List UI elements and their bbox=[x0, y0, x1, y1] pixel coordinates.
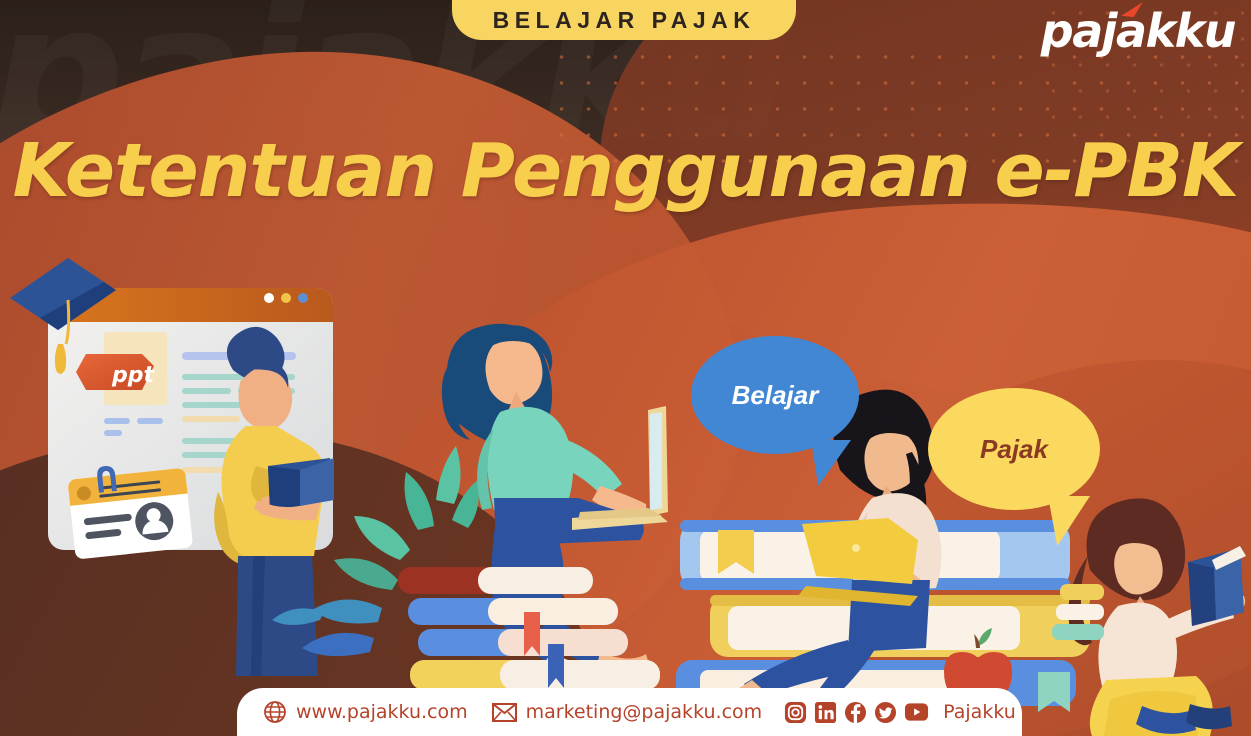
email-label: marketing@pajakku.com bbox=[526, 701, 763, 723]
email-item[interactable]: marketing@pajakku.com bbox=[492, 701, 763, 723]
twitter-icon[interactable] bbox=[874, 701, 897, 724]
pajakku-logo[interactable]: pajakku bbox=[1041, 4, 1235, 58]
website-item[interactable]: www.pajakku.com bbox=[263, 700, 468, 724]
website-label: www.pajakku.com bbox=[296, 701, 468, 723]
speech-bubble-belajar: Belajar bbox=[691, 336, 859, 454]
belajar-pajak-badge: BELAJAR PAJAK bbox=[452, 0, 796, 40]
poster-canvas: pajakku BELAJAR PAJAK pajakku Ketentuan … bbox=[0, 0, 1251, 736]
linkedin-icon[interactable] bbox=[814, 701, 837, 724]
facebook-icon[interactable] bbox=[844, 701, 867, 724]
social-links: Pajakku bbox=[784, 701, 1016, 724]
speech-bubble-pajak-text: Pajak bbox=[980, 434, 1048, 465]
speech-bubble-belajar-text: Belajar bbox=[732, 380, 819, 411]
speech-bubble-pajak: Pajak bbox=[928, 388, 1100, 510]
page-title: Ketentuan Penggunaan e-PBK bbox=[0, 128, 1251, 214]
mail-icon bbox=[492, 703, 517, 722]
youtube-icon[interactable] bbox=[904, 701, 929, 723]
instagram-icon[interactable] bbox=[784, 701, 807, 724]
logo-wordmark: pajakku bbox=[1041, 4, 1235, 58]
globe-icon bbox=[263, 700, 287, 724]
contact-footer-bar: www.pajakku.com marketing@pajakku.com bbox=[237, 688, 1022, 736]
social-handle-label: Pajakku bbox=[943, 701, 1016, 723]
badge-label: BELAJAR PAJAK bbox=[493, 7, 756, 34]
